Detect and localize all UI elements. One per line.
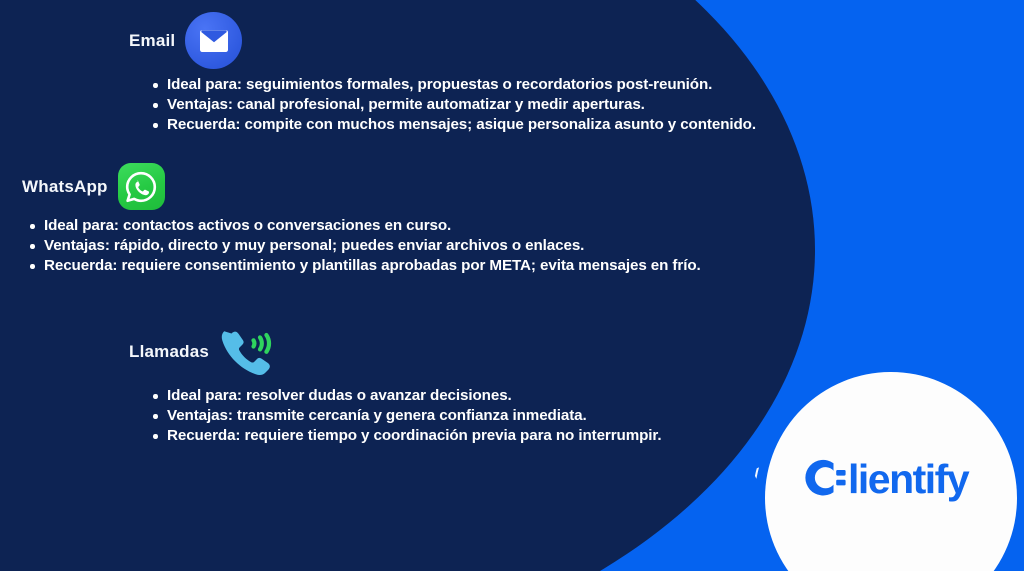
- list-item: Ideal para: seguimientos formales, propu…: [150, 75, 756, 95]
- section-calls-header: Llamadas: [129, 324, 662, 380]
- section-whatsapp-bullets: Ideal para: contactos activos o conversa…: [27, 216, 701, 276]
- section-email: Email Ideal para: seguimientos formales,…: [129, 12, 756, 135]
- list-item: Ventajas: rápido, directo y muy personal…: [27, 236, 701, 256]
- section-whatsapp: WhatsApp Ideal para: contactos activos o…: [22, 163, 701, 276]
- list-item: Ventajas: transmite cercanía y genera co…: [150, 406, 662, 426]
- section-whatsapp-header: WhatsApp: [22, 163, 701, 210]
- clientify-logo: lientify Clientify: [800, 452, 990, 504]
- list-item: Recuerda: compite con muchos mensajes; a…: [150, 115, 756, 135]
- section-email-label: Email: [129, 31, 175, 51]
- section-calls: Llamadas Ideal para: resolver dudas o av…: [129, 324, 662, 446]
- logo-wordmark: lientify: [848, 456, 970, 502]
- phone-call-icon: [219, 324, 277, 380]
- section-calls-bullets: Ideal para: resolver dudas o avanzar dec…: [150, 386, 662, 446]
- section-whatsapp-label: WhatsApp: [22, 177, 108, 197]
- list-item: Recuerda: requiere tiempo y coordinación…: [150, 426, 662, 446]
- section-email-header: Email: [129, 12, 756, 69]
- email-envelope-icon: [185, 12, 242, 69]
- list-item: Ideal para: contactos activos o conversa…: [27, 216, 701, 236]
- list-item: Ideal para: resolver dudas o avanzar dec…: [150, 386, 662, 406]
- slide-canvas: Email Ideal para: seguimientos formales,…: [0, 0, 1024, 571]
- section-email-bullets: Ideal para: seguimientos formales, propu…: [150, 75, 756, 135]
- section-calls-label: Llamadas: [129, 342, 209, 362]
- list-item: Ventajas: canal profesional, permite aut…: [150, 95, 756, 115]
- list-item: Recuerda: requiere consentimiento y plan…: [27, 256, 701, 276]
- whatsapp-icon: [118, 163, 165, 210]
